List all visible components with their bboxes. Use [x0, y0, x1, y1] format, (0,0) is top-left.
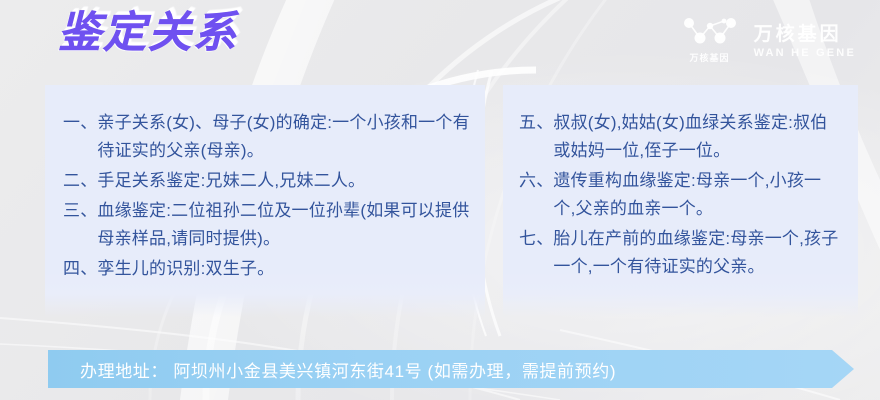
clause-item: 七、胎儿在产前的血缘鉴定:母亲一个,孩子一个,一个有待证实的父亲。 [519, 225, 842, 281]
clause-number: 五、 [519, 109, 553, 137]
clause-panel-right: 五、叔叔(女),姑姑(女)血绿关系鉴定:叔伯或姑妈一位,侄子一位。六、遗传重构血… [503, 85, 858, 317]
clause-number: 四、 [63, 255, 97, 283]
clause-number: 二、 [63, 167, 97, 195]
clause-list-left: 一、亲子关系(女)、母子(女)的确定:一个小孩和一个有待证实的父亲(母亲)。二、… [45, 85, 485, 283]
logo-mark: 万核基因 [680, 14, 740, 64]
clause-text: 胎儿在产前的血缘鉴定:母亲一个,孩子一个,一个有待证实的父亲。 [553, 225, 842, 281]
logo-wordmark: 万核基因 WAN HE GENE [754, 19, 856, 59]
molecule-node-icon [680, 14, 740, 48]
clause-number: 六、 [519, 167, 553, 195]
page-title-text: 鉴定关系 [58, 8, 238, 60]
clause-item: 五、叔叔(女),姑姑(女)血绿关系鉴定:叔伯或姑妈一位,侄子一位。 [519, 109, 842, 165]
clause-number: 七、 [519, 225, 553, 253]
clause-text: 亲子关系(女)、母子(女)的确定:一个小孩和一个有待证实的父亲(母亲)。 [97, 109, 471, 165]
address-banner-text: 办理地址： 阿坝州小金县美兴镇河东街41号 (如需办理，需提前预约) [48, 357, 616, 382]
address-banner: 办理地址： 阿坝州小金县美兴镇河东街41号 (如需办理，需提前预约) [48, 350, 854, 388]
clause-text: 孪生儿的识别:双生子。 [97, 255, 471, 283]
clause-number: 一、 [63, 109, 97, 137]
clause-item: 四、孪生儿的识别:双生子。 [63, 255, 471, 283]
clause-number: 三、 [63, 197, 97, 225]
clause-item: 二、手足关系鉴定:兄妹二人,兄妹二人。 [63, 167, 471, 195]
clause-text: 叔叔(女),姑姑(女)血绿关系鉴定:叔伯或姑妈一位,侄子一位。 [553, 109, 842, 165]
clause-panel-left: 一、亲子关系(女)、母子(女)的确定:一个小孩和一个有待证实的父亲(母亲)。二、… [45, 85, 485, 317]
clause-list-right: 五、叔叔(女),姑姑(女)血绿关系鉴定:叔伯或姑妈一位,侄子一位。六、遗传重构血… [503, 85, 858, 281]
clause-text: 手足关系鉴定:兄妹二人,兄妹二人。 [97, 167, 471, 195]
clause-item: 三、血缘鉴定:二位祖孙二位及一位孙辈(如果可以提供母亲样品,请同时提供)。 [63, 197, 471, 253]
logo-mark-label: 万核基因 [690, 51, 730, 64]
clause-text: 遗传重构血缘鉴定:母亲一个,小孩一个,父亲的血亲一个。 [553, 167, 842, 223]
clause-item: 一、亲子关系(女)、母子(女)的确定:一个小孩和一个有待证实的父亲(母亲)。 [63, 109, 471, 165]
clause-item: 六、遗传重构血缘鉴定:母亲一个,小孩一个,父亲的血亲一个。 [519, 167, 842, 223]
logo-brand-en: WAN HE GENE [754, 47, 856, 59]
brand-logo: 万核基因 万核基因 WAN HE GENE [680, 14, 856, 64]
clause-text: 血缘鉴定:二位祖孙二位及一位孙辈(如果可以提供母亲样品,请同时提供)。 [97, 197, 471, 253]
logo-brand-cn: 万核基因 [754, 19, 842, 46]
page-title: 鉴定关系 [58, 8, 238, 60]
